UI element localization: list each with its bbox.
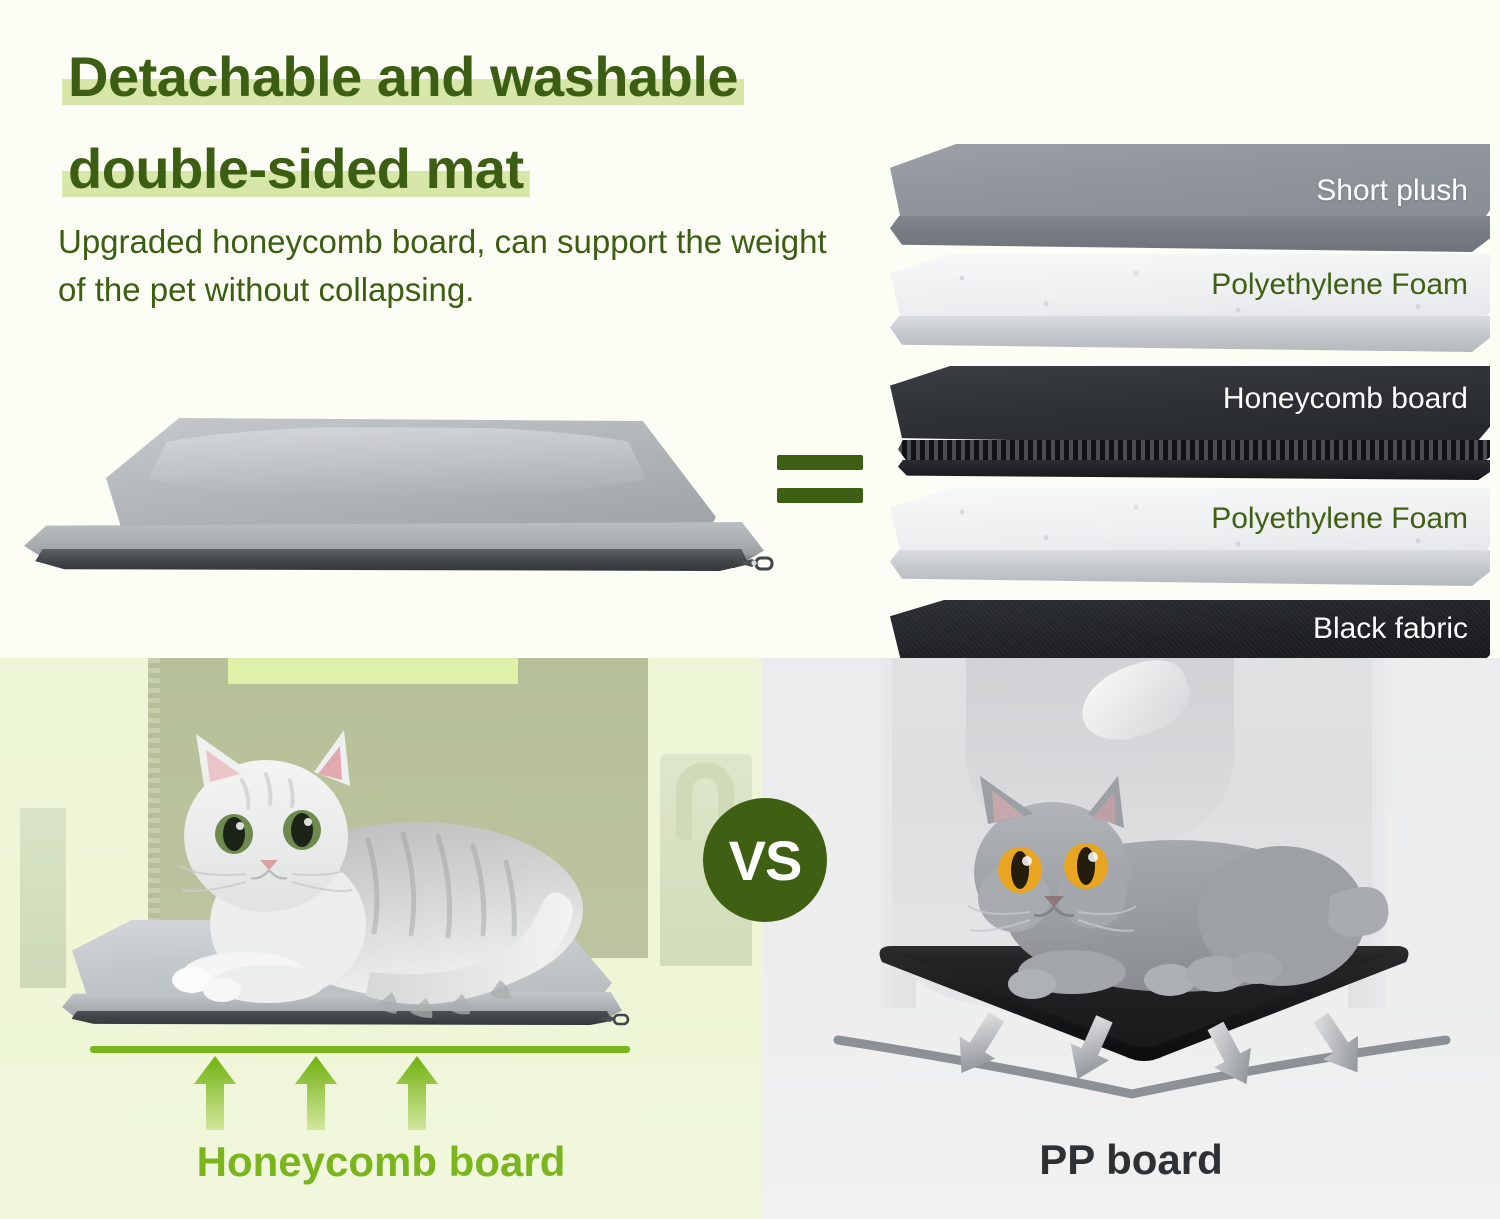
layer-honeycomb-board: Honeycomb board — [890, 366, 1490, 494]
headline-text-2: double-sided mat — [68, 137, 524, 200]
layer-label-honeycomb: Honeycomb board — [1223, 382, 1468, 416]
comparison-panel-honeycomb: Honeycomb board — [0, 658, 762, 1219]
carrier-mesh-top — [228, 658, 518, 684]
equals-bar-top — [777, 455, 863, 470]
up-arrow-icon — [192, 1054, 238, 1130]
vs-badge-label: VS — [729, 828, 802, 893]
infographic-root: Detachable and washable double-sided mat… — [0, 0, 1500, 1219]
layer-label-foam-bottom: Polyethylene Foam — [1211, 502, 1468, 536]
vs-badge: VS — [703, 798, 827, 922]
layer-short-plush: Short plush — [890, 144, 1490, 262]
headline-line-2: double-sided mat — [62, 132, 530, 206]
label-pp-board: PP board — [762, 1136, 1500, 1184]
headline-row-2: double-sided mat — [62, 132, 892, 206]
flat-support-line — [90, 1046, 630, 1053]
headline-text-1: Detachable and washable — [68, 45, 738, 108]
top-section: Detachable and washable double-sided mat… — [0, 0, 1500, 658]
up-arrow-icon — [394, 1054, 440, 1130]
mat-product-photo — [18, 418, 778, 603]
down-arrow-icon — [1062, 1014, 1120, 1084]
label-honeycomb-board: Honeycomb board — [0, 1138, 762, 1186]
comparison-panel-pp: PP board — [762, 658, 1500, 1219]
carrier-strap-left — [20, 808, 66, 988]
layer-polyethylene-foam-top: Polyethylene Foam — [890, 254, 1490, 360]
subtitle-text: Upgraded honeycomb board, can support th… — [58, 218, 858, 314]
mat-base-edge — [28, 549, 756, 571]
equals-sign — [777, 455, 863, 517]
layer-label-foam-top: Polyethylene Foam — [1211, 268, 1468, 302]
up-arrow-icon — [293, 1054, 339, 1130]
layer-polyethylene-foam-bottom: Polyethylene Foam — [890, 488, 1490, 596]
layer-label-black-fabric: Black fabric — [1313, 612, 1468, 646]
equals-bar-bottom — [777, 488, 863, 503]
zipper-pull-icon — [736, 550, 778, 576]
down-arrow-icon — [1202, 1020, 1260, 1090]
headline-line-1: Detachable and washable — [62, 40, 744, 114]
down-arrow-icon — [1310, 1010, 1368, 1080]
layer-side — [890, 550, 1490, 586]
layer-side — [898, 460, 1490, 480]
layer-side — [890, 316, 1490, 352]
down-arrow-icon — [950, 1010, 1008, 1080]
material-layer-stack: Short plush Polyethylene Foam Honeycomb … — [890, 138, 1490, 608]
cat-british-shorthair — [926, 776, 1396, 1016]
layer-label-short-plush: Short plush — [1316, 174, 1468, 208]
headline-row-1: Detachable and washable — [62, 40, 892, 114]
comparison-section: Honeycomb board — [0, 658, 1500, 1219]
cat-silver-tabby — [118, 728, 638, 1028]
mat-surface-sheen — [118, 426, 678, 498]
headline-block: Detachable and washable double-sided mat — [62, 40, 892, 206]
layer-side — [890, 216, 1490, 252]
